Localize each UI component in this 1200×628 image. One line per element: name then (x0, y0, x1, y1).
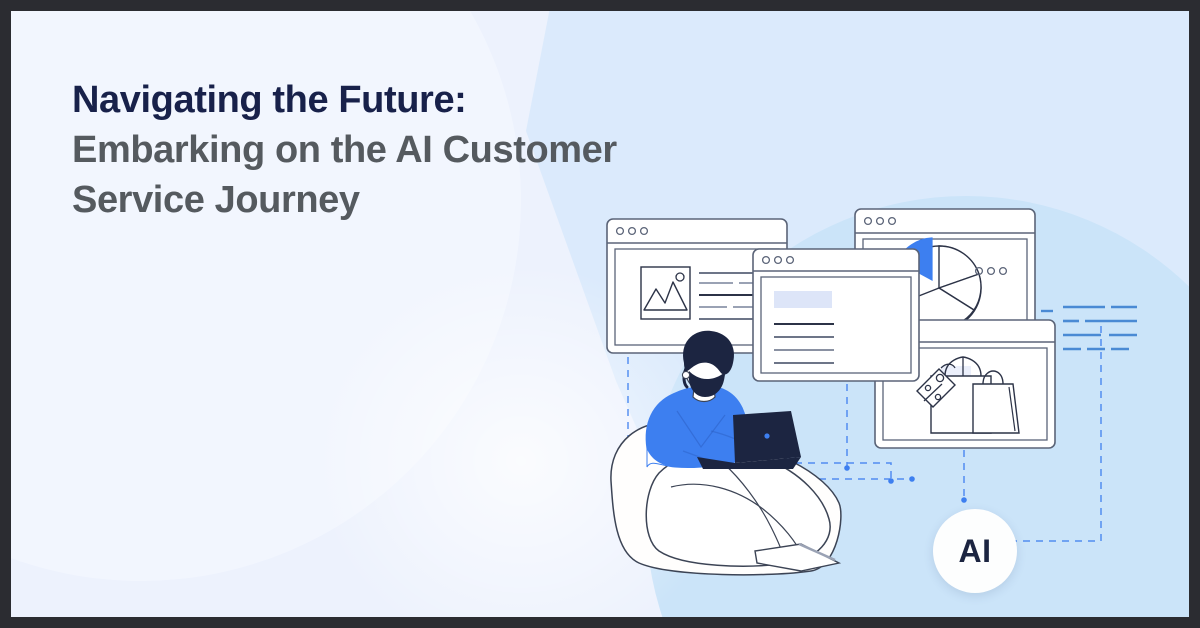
poster-frame: Navigating the Future: Embarking on the … (0, 0, 1200, 628)
title-line-3: Service Journey (72, 175, 792, 225)
ai-badge[interactable]: AI (933, 509, 1017, 593)
ai-badge-label: AI (959, 533, 992, 570)
poster-canvas: Navigating the Future: Embarking on the … (11, 11, 1189, 617)
document-window[interactable] (753, 249, 919, 381)
title-line-2: Embarking on the AI Customer (72, 125, 792, 175)
right-side-dash-lines (1063, 307, 1137, 349)
page-title: Navigating the Future: Embarking on the … (72, 75, 792, 225)
document-heading-block (774, 291, 832, 308)
title-line-1: Navigating the Future: (72, 75, 792, 125)
